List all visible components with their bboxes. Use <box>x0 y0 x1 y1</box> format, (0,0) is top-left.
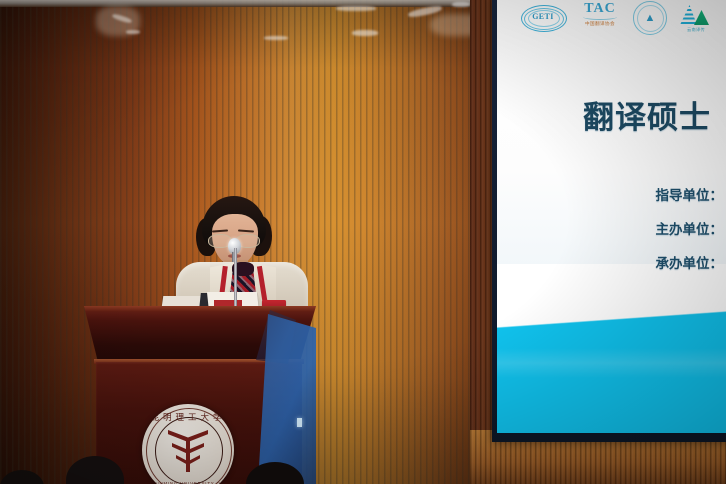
green-logo-caption: 云南译传 <box>679 27 713 33</box>
podium-blue-panel <box>258 314 316 484</box>
wall-glare-2 <box>352 30 378 36</box>
slide-line-organizing-unit: 承办单位： <box>497 252 726 272</box>
seal-chinese-name: 昆明理工大学 <box>142 411 234 423</box>
circle-logo: ▲ <box>633 0 667 36</box>
green-logo: 云南译传 <box>679 0 713 36</box>
photo-stage: GETI TAC 中国翻译协会 ▲ 云南译传 <box>0 0 726 484</box>
slide-logo-row: GETI TAC 中国翻译协会 ▲ 云南译传 <box>521 0 726 38</box>
projection-screen: GETI TAC 中国翻译协会 ▲ 云南译传 <box>497 0 726 433</box>
geti-logo: GETI <box>521 0 567 36</box>
slide-title: 翻译硕士 <box>583 92 711 137</box>
mountain-icon: ▲ <box>645 13 656 24</box>
podium-top-edge <box>84 306 316 312</box>
geti-logo-text: GETI <box>521 12 565 21</box>
slide-line-guiding-unit: 指导单位： <box>497 184 726 204</box>
slide-body: 指导单位： 主办单位： 承办单位： <box>497 184 726 286</box>
wall-glare-5 <box>452 2 470 7</box>
podium-indicator-light <box>297 418 302 427</box>
podium: 昆明理工大学 KUNMING UNIVERSITY OF SCIENCE AND… <box>84 306 316 484</box>
slide-line-host-unit: 主办单位： <box>497 218 726 238</box>
seal-emblem <box>168 430 208 472</box>
wall-glare-9 <box>96 6 140 36</box>
slide-sheen <box>497 348 726 378</box>
wall-glare-1 <box>336 6 376 11</box>
tac-logo-caption: 中国翻译协会 <box>585 21 615 27</box>
tac-logo: TAC 中国翻译协会 <box>579 0 621 36</box>
university-seal: 昆明理工大学 KUNMING UNIVERSITY OF SCIENCE AND… <box>142 404 234 484</box>
wall-glare-6 <box>264 36 288 40</box>
